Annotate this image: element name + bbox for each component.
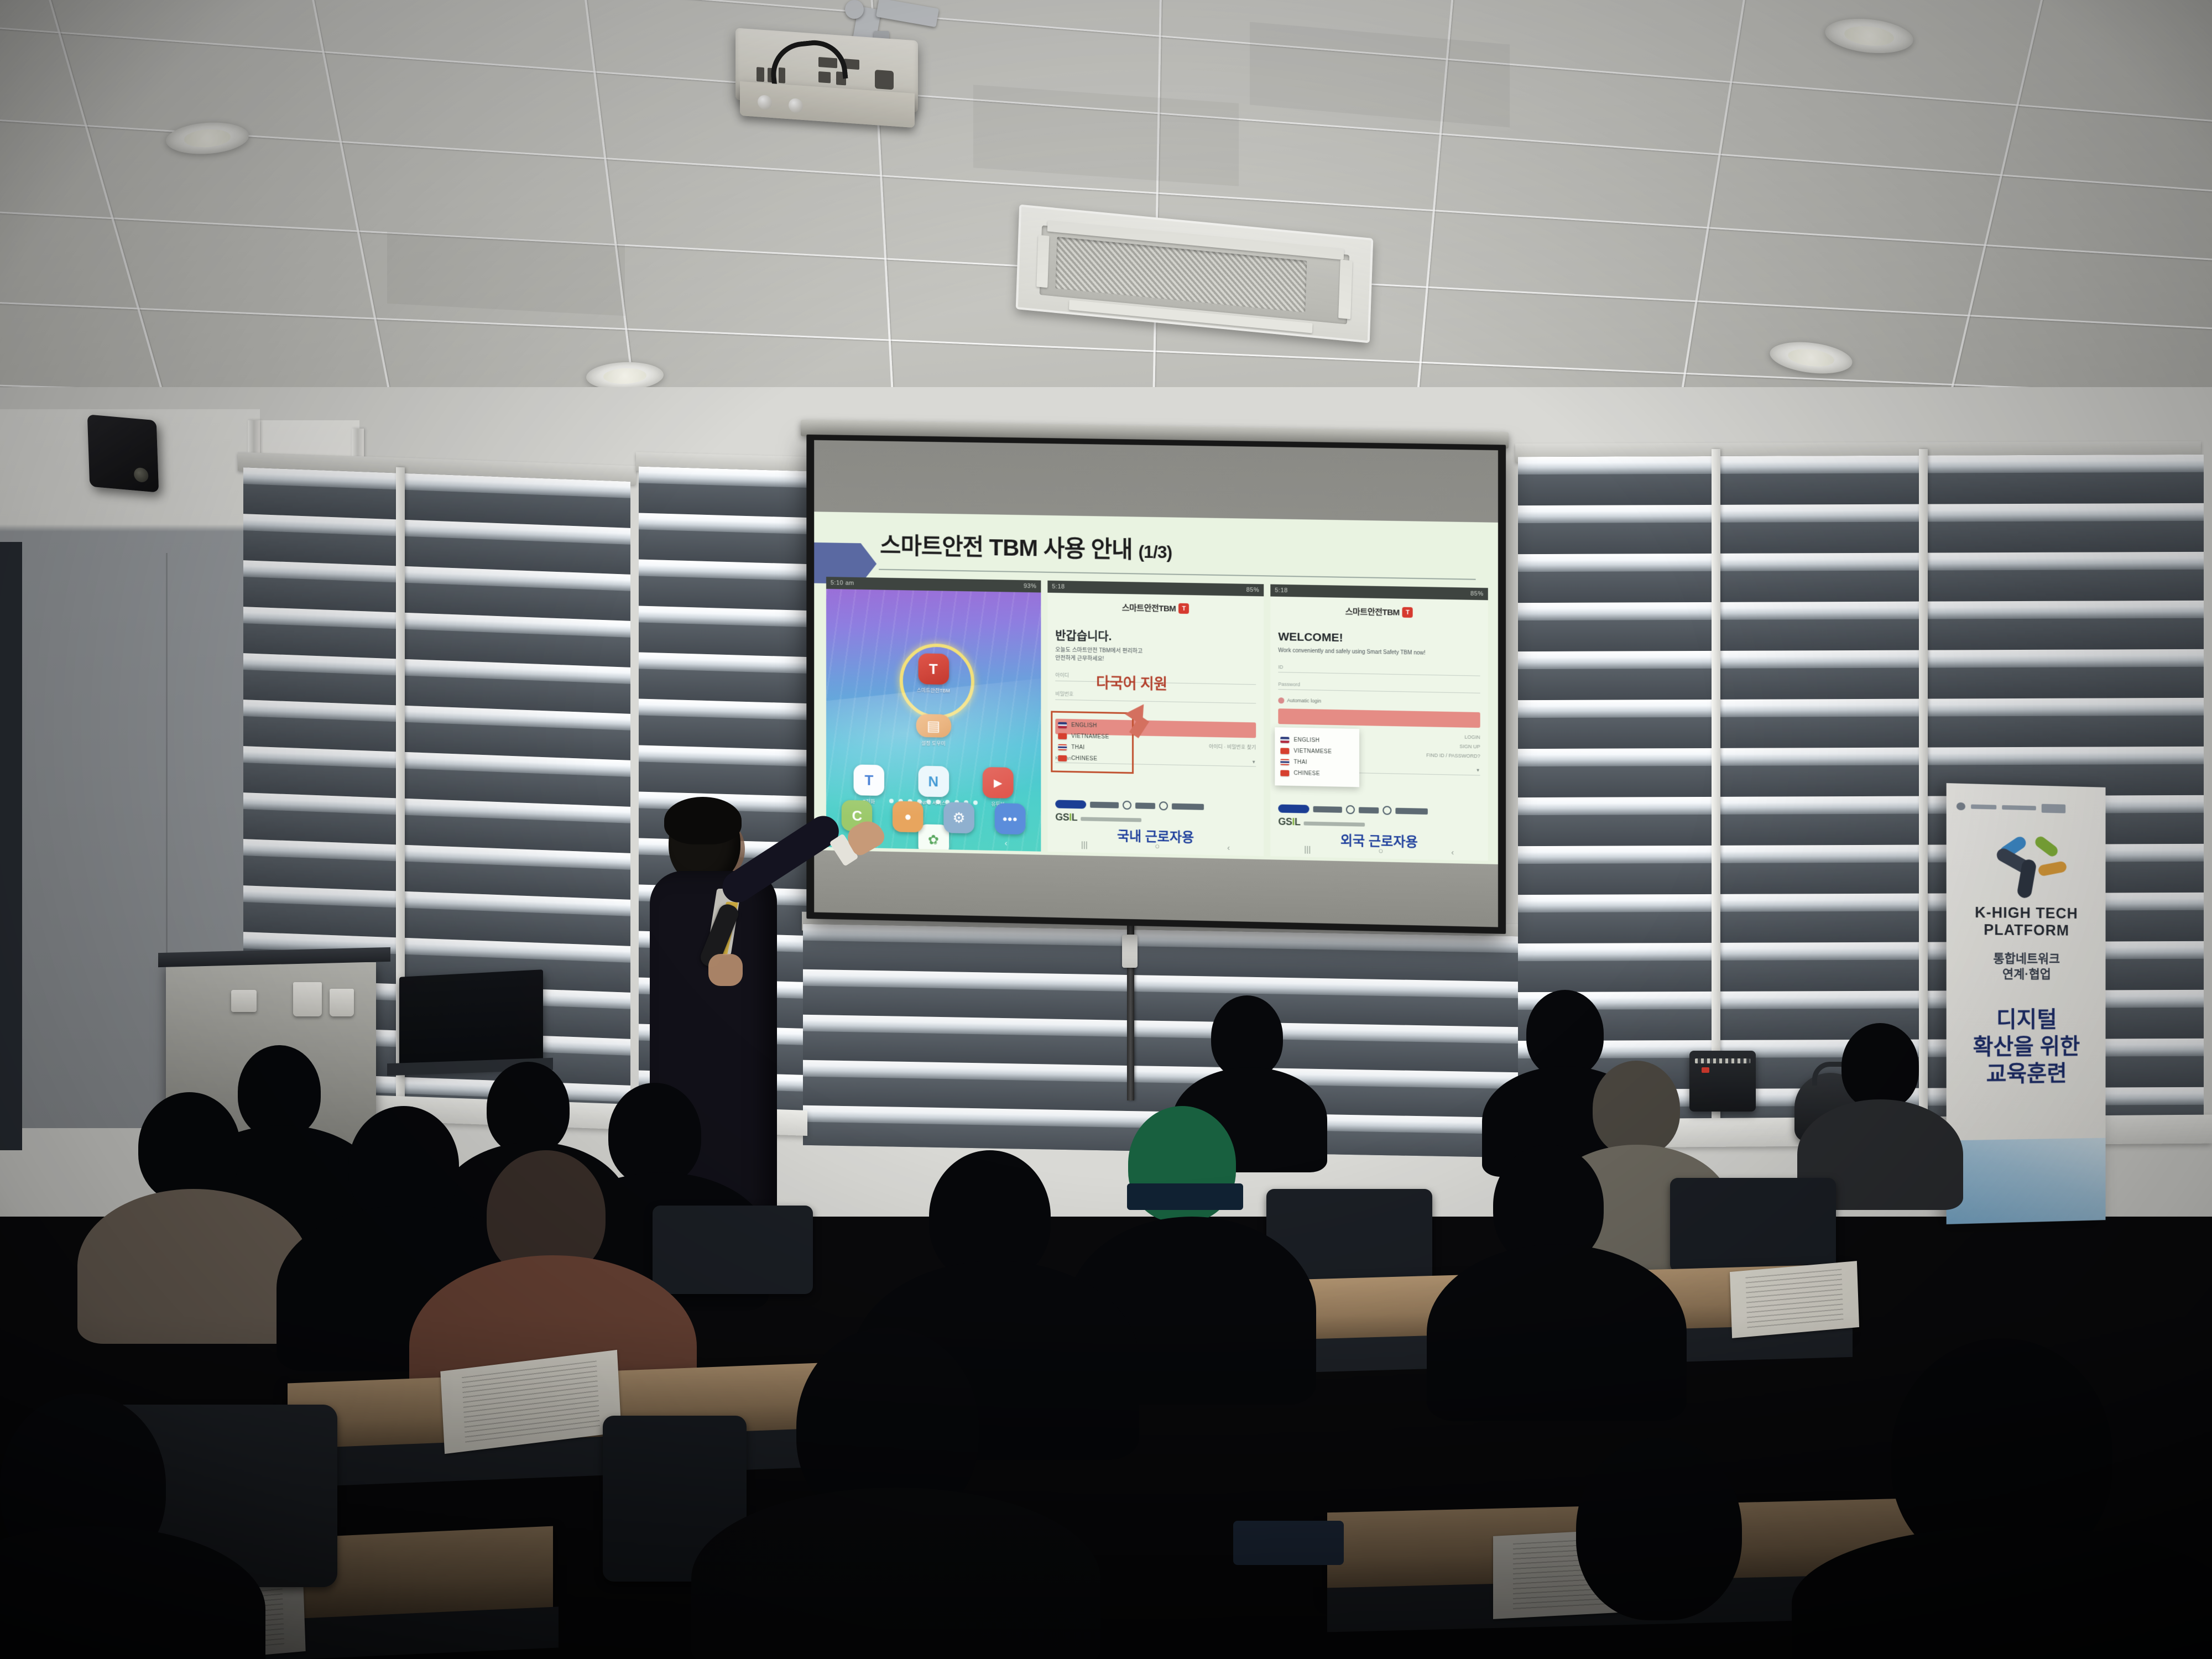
tbm-app-glyph: T bbox=[918, 653, 949, 685]
language-option[interactable]: ENGLISH bbox=[1280, 737, 1354, 744]
slide-title-main: 스마트안전 TBM 사용 안내 bbox=[880, 533, 1133, 562]
ceiling bbox=[0, 0, 2212, 431]
nav-back-icon[interactable]: ‹ bbox=[1005, 838, 1008, 848]
audience-shoulders bbox=[1427, 1244, 1687, 1421]
app-brand: 스마트안전TBM T bbox=[1278, 604, 1480, 619]
sponsor-mark-icon bbox=[1957, 802, 1965, 811]
language-dropdown-foreign[interactable]: ENGLISH VIETNAMESE THAI bbox=[1275, 727, 1359, 787]
app-icon-nfc[interactable]: N NFC 서비스 bbox=[912, 765, 954, 806]
login-form-foreign: 스마트안전TBM T WELCOME! Work conveniently an… bbox=[1270, 597, 1488, 861]
app-label: 스마트안전TBM bbox=[912, 686, 954, 694]
projection-screen: 스마트안전 TBM 사용 안내 (1/3) 5:10 am 93% bbox=[806, 435, 1506, 934]
language-option[interactable]: ENGLISH bbox=[1058, 722, 1126, 729]
audience-head bbox=[138, 1092, 241, 1203]
flag-chinese-icon bbox=[1058, 755, 1067, 761]
flag-english-icon bbox=[1280, 737, 1289, 743]
presenter-laptop[interactable] bbox=[399, 969, 543, 1071]
radio-icon bbox=[1278, 697, 1284, 703]
chair-back bbox=[653, 1206, 813, 1294]
language-label: VIETNAMESE bbox=[1293, 748, 1332, 755]
language-label: ENGLISH bbox=[1071, 722, 1097, 729]
banner-sponsor-row bbox=[1957, 802, 2096, 813]
app-icon-tcall[interactable]: T T전화 bbox=[848, 764, 890, 805]
language-option[interactable]: THAI bbox=[1058, 744, 1126, 752]
paper-cup bbox=[330, 989, 354, 1016]
login-heading: 반갑습니다. bbox=[1055, 627, 1256, 646]
app-brand: 스마트안전TBM T bbox=[1055, 601, 1256, 615]
tray bbox=[231, 990, 257, 1012]
language-label: ENGLISH bbox=[1293, 737, 1319, 744]
flag-thai-icon bbox=[1280, 759, 1289, 765]
language-option[interactable]: VIETNAMESE bbox=[1280, 748, 1354, 755]
chair-back bbox=[1670, 1178, 1836, 1272]
login-subheading: Work conveniently and safely using Smart… bbox=[1278, 647, 1480, 659]
portable-amplifier bbox=[1689, 1051, 1756, 1112]
language-option[interactable]: THAI bbox=[1280, 759, 1354, 766]
flag-english-icon bbox=[1058, 722, 1067, 728]
partner-logos: GSIL bbox=[1055, 799, 1256, 827]
samsung-logo bbox=[1278, 804, 1309, 813]
audience-head bbox=[487, 1062, 570, 1155]
login-heading: WELCOME! bbox=[1278, 630, 1480, 648]
dock-icon-contacts[interactable]: ● bbox=[891, 801, 925, 832]
nav-recents-icon[interactable]: ||| bbox=[1081, 840, 1088, 849]
login-subheading: 오늘도 스마트안전 TBM에서 편리하고 안전하게 근무하세요! bbox=[1055, 646, 1256, 666]
gear-icon: ⚙ bbox=[943, 802, 974, 833]
app-label: NFC 서비스 bbox=[912, 799, 954, 807]
language-option[interactable]: CHINESE bbox=[1058, 755, 1126, 763]
cap-brim bbox=[1127, 1183, 1243, 1210]
auto-login-toggle[interactable]: Automatic login bbox=[1278, 697, 1480, 707]
banner-headline: 디지털 확산을 위한 교육훈련 bbox=[1947, 1006, 2106, 1088]
app-icon-youtube[interactable]: ▶ 유튜브 bbox=[977, 767, 1020, 808]
audience-head bbox=[1211, 995, 1283, 1078]
contacts-glyph: ● bbox=[893, 801, 924, 832]
partner-text-logo bbox=[1313, 806, 1342, 812]
status-time: 5:18 bbox=[1052, 583, 1065, 590]
partner-text-logo bbox=[1172, 803, 1204, 810]
slide-header: 스마트안전 TBM 사용 안내 (1/3) bbox=[814, 517, 1498, 576]
nav-back-icon[interactable]: ‹ bbox=[1451, 848, 1454, 857]
brand-wordmark: 스마트안전TBM bbox=[1345, 606, 1400, 618]
banner-title-en: K-HIGH TECH PLATFORM bbox=[1947, 904, 2106, 940]
phone-login-foreign: 5:18 85% 스마트안전TBM T WELCOME! Work conven… bbox=[1270, 585, 1488, 861]
login-form-domestic: 스마트안전TBM T 반갑습니다. 오늘도 스마트안전 TBM에서 편리하고 안… bbox=[1047, 593, 1264, 856]
partner-circle-logo bbox=[1159, 801, 1168, 810]
partner-text-logo bbox=[1395, 807, 1427, 814]
flag-thai-icon bbox=[1058, 744, 1067, 750]
brand-mark-icon: T bbox=[1402, 607, 1413, 618]
chevron-down-icon: ▼ bbox=[1251, 759, 1256, 764]
status-time: 5:10 am bbox=[831, 580, 854, 587]
login-button[interactable] bbox=[1278, 708, 1480, 728]
home-page-indicator bbox=[826, 797, 1041, 806]
app-icon-setup[interactable]: ▤ 설정 도우미 bbox=[912, 714, 954, 747]
foreground-audience-head bbox=[1576, 1438, 1742, 1620]
app-label: T전화 bbox=[848, 797, 890, 806]
id-field[interactable]: ID bbox=[1278, 664, 1480, 676]
status-time: 5:18 bbox=[1275, 587, 1288, 594]
language-label: THAI bbox=[1293, 759, 1307, 765]
partner-text-logo bbox=[1135, 802, 1155, 809]
chevron-down-icon: ▼ bbox=[1476, 768, 1480, 773]
annotation-multilingual: 다국어 지원 bbox=[1096, 671, 1167, 693]
brand-wordmark: 스마트안전TBM bbox=[1122, 602, 1176, 614]
brand-mark-icon: T bbox=[1178, 603, 1189, 614]
message-glyph: ●●● bbox=[994, 803, 1025, 834]
language-label: VIETNAMESE bbox=[1071, 733, 1109, 740]
audience-shoulders-grey bbox=[77, 1189, 310, 1344]
language-label: CHINESE bbox=[1071, 755, 1097, 762]
partner-circle-logo bbox=[1346, 805, 1355, 814]
home-wallpaper: T 스마트안전TBM ▤ 설정 도우미 T T전화 bbox=[826, 589, 1041, 852]
phone-home-screen: 5:10 am 93% T 스마트안전TBM ▤ bbox=[826, 577, 1041, 852]
wall-speaker bbox=[87, 414, 159, 492]
app-icon-tbm[interactable]: T 스마트안전TBM bbox=[912, 653, 954, 694]
audience-head-grey bbox=[1593, 1061, 1680, 1156]
banner-footer-graphic bbox=[1947, 1138, 2106, 1224]
gsil-tagline bbox=[1304, 821, 1365, 826]
nav-back-icon[interactable]: ‹ bbox=[1227, 843, 1230, 852]
nav-home-icon[interactable]: ○ bbox=[933, 837, 938, 846]
partner-circle-logo bbox=[1123, 801, 1131, 810]
language-label: CHINESE bbox=[1293, 770, 1319, 777]
rollup-banner: K-HIGH TECH PLATFORM 통합네트워크 연계·협업 디지털 확산… bbox=[1947, 783, 2106, 1224]
banner-subtitle: 통합네트워크 연계·협업 bbox=[1947, 951, 2106, 982]
gsil-logo: GSIL bbox=[1055, 811, 1077, 823]
phone-login-domestic: 5:18 85% 스마트안전TBM T 반갑습니다. 오늘도 스마트안전 TBM… bbox=[1047, 581, 1264, 856]
app-label: 유튜브 bbox=[977, 800, 1020, 808]
window-mullion bbox=[1712, 449, 1720, 1129]
setup-app-glyph: ▤ bbox=[916, 714, 951, 738]
nav-home-icon[interactable]: ○ bbox=[1155, 842, 1160, 851]
phone-mockups: 5:10 am 93% T 스마트안전TBM ▤ bbox=[826, 577, 1488, 861]
dock-icon-settings[interactable]: ⚙ bbox=[942, 802, 975, 833]
partner-circle-logo bbox=[1383, 806, 1391, 815]
language-option[interactable]: VIETNAMESE bbox=[1058, 733, 1126, 740]
handout-paper bbox=[1730, 1261, 1859, 1338]
status-battery: 85% bbox=[1470, 591, 1484, 597]
partner-text-logo bbox=[1090, 801, 1119, 808]
nav-recents-icon[interactable]: ||| bbox=[1304, 844, 1311, 854]
auto-login-label: Automatic login bbox=[1287, 697, 1321, 703]
password-field[interactable]: Password bbox=[1278, 681, 1480, 693]
screenshot-root: 스마트안전 TBM 사용 안내 (1/3) 5:10 am 93% bbox=[0, 0, 2212, 1659]
k-platform-logo bbox=[1985, 839, 2068, 901]
slide: 스마트안전 TBM 사용 안내 (1/3) 5:10 am 93% bbox=[814, 512, 1498, 864]
flag-vietnamese-icon bbox=[1280, 748, 1289, 754]
samsung-logo bbox=[1055, 800, 1086, 808]
partner-logos: GSIL bbox=[1278, 804, 1480, 832]
language-dropdown-domestic[interactable]: ENGLISH VIETNAMESE THAI bbox=[1051, 711, 1134, 774]
partner-text-logo bbox=[1359, 807, 1379, 813]
audience-head bbox=[238, 1045, 321, 1138]
foreground-audience-shoulders bbox=[691, 1488, 1100, 1659]
app-label: 설정 도우미 bbox=[912, 739, 954, 747]
language-label: THAI bbox=[1071, 744, 1084, 750]
snack-bag bbox=[1233, 1521, 1344, 1565]
nfc-glyph: N bbox=[918, 766, 949, 797]
nav-home-icon[interactable]: ○ bbox=[1379, 846, 1384, 855]
language-option[interactable]: CHINESE bbox=[1280, 770, 1354, 778]
projected-image: 스마트안전 TBM 사용 안내 (1/3) 5:10 am 93% bbox=[814, 512, 1498, 864]
tcall-glyph: T bbox=[854, 764, 885, 796]
flag-vietnamese-icon bbox=[1058, 733, 1067, 739]
status-battery: 85% bbox=[1246, 587, 1260, 593]
slide-title-rule bbox=[879, 569, 1475, 580]
slide-title: 스마트안전 TBM 사용 안내 (1/3) bbox=[880, 527, 1172, 566]
audience-head bbox=[608, 1083, 701, 1186]
status-battery: 93% bbox=[1024, 583, 1036, 589]
window-mullion bbox=[1919, 449, 1928, 1129]
screen-clip bbox=[1122, 935, 1138, 968]
banner-title-line1: K-HIGH TECH bbox=[1947, 904, 2106, 923]
gsil-logo: GSIL bbox=[1278, 816, 1300, 828]
gsil-tagline bbox=[1081, 817, 1141, 822]
paper-cup bbox=[293, 982, 322, 1016]
left-wall-dark-edge bbox=[0, 542, 22, 1150]
flag-chinese-icon bbox=[1280, 770, 1289, 776]
slide-title-page: (1/3) bbox=[1138, 542, 1172, 562]
dock-icon-messages[interactable]: ●●● bbox=[993, 803, 1026, 834]
audience-head bbox=[1841, 1023, 1919, 1109]
youtube-glyph: ▶ bbox=[983, 767, 1014, 799]
audience-head bbox=[1526, 990, 1604, 1077]
banner-title-line2: PLATFORM bbox=[1947, 921, 2106, 940]
